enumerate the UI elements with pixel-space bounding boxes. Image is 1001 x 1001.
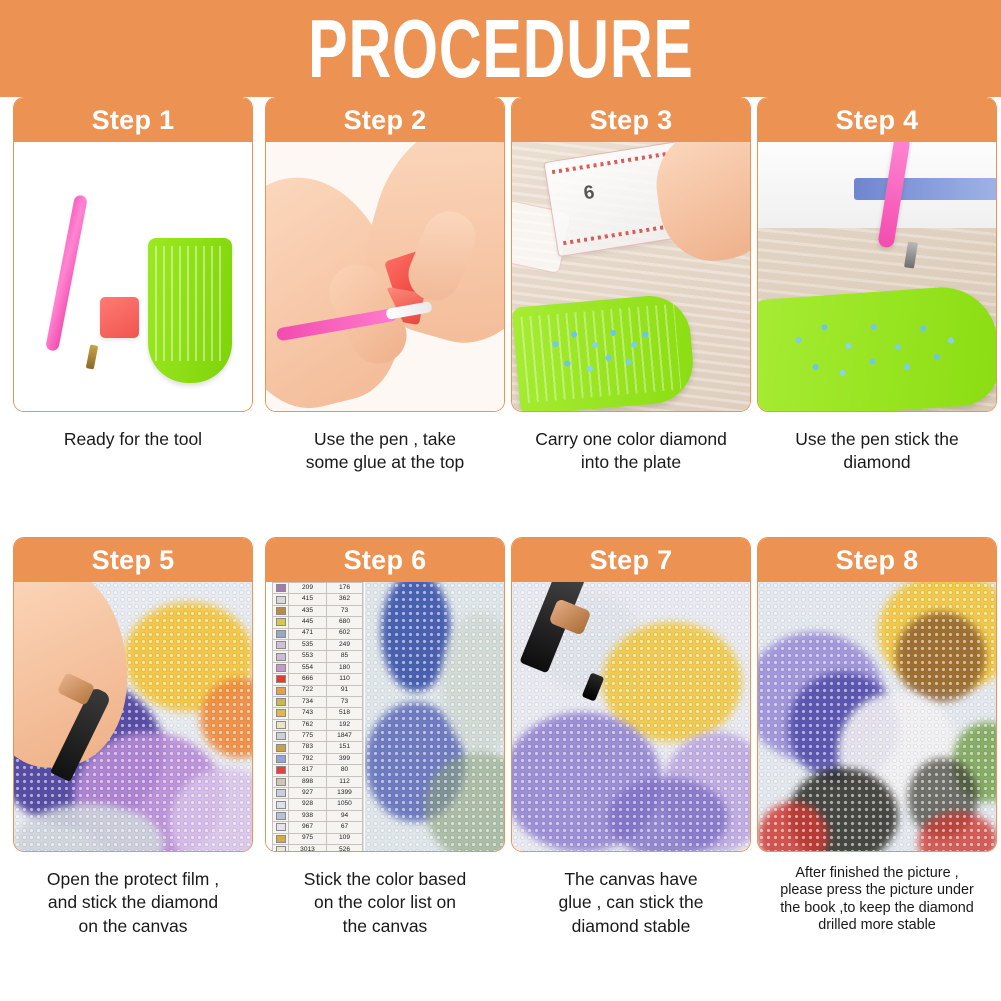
caption-line: glue , can stick the: [511, 891, 751, 914]
color-count-cell: 680: [327, 617, 363, 628]
pen-tip-icon: [86, 344, 98, 369]
caption-line: diamond stable: [511, 915, 751, 938]
steps-row-top: Step 1 Ready for the tool: [0, 97, 1001, 549]
canvas-sheet-icon: [758, 142, 996, 228]
color-symbol-cell: [273, 742, 289, 753]
color-count-cell: 1050: [327, 799, 363, 810]
step-cell-1: Step 1 Ready for the tool: [13, 97, 253, 549]
pour-diamonds-illustration: 6: [512, 142, 750, 412]
color-code-cell: 415: [289, 594, 327, 605]
color-code-cell: 743: [289, 708, 327, 719]
color-symbol-cell: [273, 708, 289, 719]
steps-grid: Step 1 Ready for the tool: [0, 97, 1001, 1001]
step-header-4: Step 4: [758, 98, 996, 142]
caption-line: Open the protect film ,: [13, 868, 253, 891]
color-symbol-cell: [273, 765, 289, 776]
color-code-cell: 928: [289, 799, 327, 810]
step-cell-8: Step 8: [757, 537, 997, 989]
color-swatch-icon: [276, 641, 286, 649]
color-list-row: 762192: [273, 719, 363, 730]
step-label-2: Step 2: [344, 107, 427, 134]
step-caption-2: Use the pen , take some glue at the top: [265, 428, 505, 475]
caption-line: some glue at the top: [265, 451, 505, 474]
caption-line: into the plate: [511, 451, 751, 474]
color-code-cell: 792: [289, 753, 327, 764]
color-swatch-icon: [276, 846, 286, 852]
color-symbol-cell: [273, 788, 289, 799]
color-count-cell: 1399: [327, 788, 363, 799]
step-card-8[interactable]: Step 8: [757, 537, 997, 852]
color-code-cell: 435: [289, 605, 327, 616]
caption-line: the book ,to keep the diamond: [757, 900, 997, 917]
color-code-cell: 734: [289, 696, 327, 707]
color-symbol-cell: [273, 617, 289, 628]
color-list-row: 554180: [273, 662, 363, 673]
color-list-row: 415362: [273, 594, 363, 605]
color-list-row: 471602: [273, 628, 363, 639]
steps-row-bottom: Step 5: [0, 537, 1001, 989]
color-list-row: 445680: [273, 617, 363, 628]
color-code-cell: 938: [289, 810, 327, 821]
color-list-row: 73473: [273, 696, 363, 707]
color-list-row: 93894: [273, 810, 363, 821]
color-symbol-cell: [273, 696, 289, 707]
color-symbol-cell: [273, 662, 289, 673]
step-label-4: Step 4: [836, 107, 919, 134]
caption-line: and stick the diamond: [13, 891, 253, 914]
caption-line: drilled more stable: [757, 917, 997, 934]
step-card-6[interactable]: Step 6 209176415362435734456804716025352…: [265, 537, 505, 852]
color-swatch-icon: [276, 596, 286, 604]
color-list-row: 975109: [273, 833, 363, 844]
step-image-4: [758, 142, 996, 412]
color-count-cell: 526: [327, 844, 363, 852]
color-symbol-cell: [273, 810, 289, 821]
step-caption-1: Ready for the tool: [13, 428, 253, 451]
step-label-3: Step 3: [590, 107, 673, 134]
caption-line: Use the pen , take: [265, 428, 505, 451]
color-list-table: 2091764153624357344568047160253524955385…: [272, 582, 363, 852]
packet-number: 6: [582, 182, 596, 205]
color-list-row: 666110: [273, 674, 363, 685]
step-label-7: Step 7: [590, 547, 673, 574]
color-count-cell: 602: [327, 628, 363, 639]
color-code-cell: 817: [289, 765, 327, 776]
pink-pen-icon: [45, 194, 88, 352]
glue-canvas-illustration: [512, 582, 750, 852]
color-swatch-icon: [276, 778, 286, 786]
color-symbol-cell: [273, 719, 289, 730]
color-list-row: 3013526: [273, 844, 363, 852]
color-code-cell: 762: [289, 719, 327, 730]
page-header-banner: PROCEDURE: [0, 0, 1001, 97]
step-image-1: [14, 142, 252, 412]
color-swatch-icon: [276, 766, 286, 774]
caption-line: the canvas: [265, 915, 505, 938]
step-card-4[interactable]: Step 4: [757, 97, 997, 412]
step-caption-8: After finished the picture , please pres…: [757, 865, 997, 935]
step-image-7: [512, 582, 750, 852]
color-list-row: 7751847: [273, 731, 363, 742]
step-caption-5: Open the protect film , and stick the di…: [13, 868, 253, 938]
caption-line: on the canvas: [13, 915, 253, 938]
color-code-cell: 775: [289, 731, 327, 742]
color-count-cell: 85: [327, 651, 363, 662]
color-code-cell: 967: [289, 822, 327, 833]
caption-line: The canvas have: [511, 868, 751, 891]
color-symbol-cell: [273, 594, 289, 605]
step-header-5: Step 5: [14, 538, 252, 582]
color-code-cell: 927: [289, 788, 327, 799]
step-card-1[interactable]: Step 1: [13, 97, 253, 412]
caption-line: Ready for the tool: [13, 428, 253, 451]
step-card-3[interactable]: Step 3 6: [511, 97, 751, 412]
color-swatch-icon: [276, 607, 286, 615]
step-label-8: Step 8: [836, 547, 919, 574]
color-symbol-cell: [273, 833, 289, 844]
color-swatch-icon: [276, 789, 286, 797]
color-symbol-cell: [273, 799, 289, 810]
finished-painting-illustration: [758, 582, 996, 852]
color-count-cell: 73: [327, 696, 363, 707]
color-symbol-cell: [273, 731, 289, 742]
caption-line: After finished the picture ,: [757, 865, 997, 882]
color-count-cell: 180: [327, 662, 363, 673]
color-count-cell: 399: [327, 753, 363, 764]
color-count-cell: 67: [327, 822, 363, 833]
step-image-2: [266, 142, 504, 412]
step-label-5: Step 5: [92, 547, 175, 574]
color-count-cell: 192: [327, 719, 363, 730]
color-list-panel: 2091764153624357344568047160253524955385…: [272, 582, 364, 852]
color-count-cell: 73: [327, 605, 363, 616]
step-image-8: [758, 582, 996, 852]
caption-line: Stick the color based: [265, 868, 505, 891]
step-cell-3: Step 3 6: [511, 97, 751, 549]
color-list-row: 81780: [273, 765, 363, 776]
color-symbol-cell: [273, 651, 289, 662]
color-list-row: 535249: [273, 639, 363, 650]
color-code-cell: 722: [289, 685, 327, 696]
color-swatch-icon: [276, 675, 286, 683]
color-count-cell: 362: [327, 594, 363, 605]
color-count-cell: 109: [327, 833, 363, 844]
tools-illustration: [14, 142, 252, 412]
color-symbol-cell: [273, 605, 289, 616]
step-caption-4: Use the pen stick the diamond: [757, 428, 997, 475]
green-tray-icon: [148, 238, 232, 383]
color-code-cell: 3013: [289, 844, 327, 852]
procedure-infographic: PROCEDURE Step 1: [0, 0, 1001, 1001]
color-count-cell: 112: [327, 776, 363, 787]
color-code-cell: 209: [289, 583, 327, 594]
caption-line: Use the pen stick the: [757, 428, 997, 451]
color-code-cell: 898: [289, 776, 327, 787]
color-swatch-icon: [276, 630, 286, 638]
step-caption-6: Stick the color based on the color list …: [265, 868, 505, 938]
color-count-cell: 249: [327, 639, 363, 650]
step-card-5[interactable]: Step 5: [13, 537, 253, 852]
color-list-row: 209176: [273, 583, 363, 594]
color-symbol-cell: [273, 776, 289, 787]
step-header-2: Step 2: [266, 98, 504, 142]
color-list-row: 743518: [273, 708, 363, 719]
step-image-6: 2091764153624357344568047160253524955385…: [266, 582, 504, 852]
diamond-grid-texture: [365, 582, 504, 852]
color-swatch-icon: [276, 698, 286, 706]
color-swatch-icon: [276, 744, 286, 752]
step-cell-6: Step 6 209176415362435734456804716025352…: [265, 537, 505, 989]
step-card-7[interactable]: Step 7: [511, 537, 751, 852]
color-swatch-icon: [276, 755, 286, 763]
color-list-row: 9271399: [273, 788, 363, 799]
stick-diamond-illustration: [14, 582, 252, 852]
step-header-6: Step 6: [266, 538, 504, 582]
color-count-cell: 518: [327, 708, 363, 719]
color-swatch-icon: [276, 721, 286, 729]
step-card-2[interactable]: Step 2: [265, 97, 505, 412]
color-code-cell: 445: [289, 617, 327, 628]
color-count-cell: 80: [327, 765, 363, 776]
hands-glue-illustration: [266, 142, 504, 412]
color-swatch-icon: [276, 835, 286, 843]
color-swatch-icon: [276, 709, 286, 717]
color-swatch-icon: [276, 618, 286, 626]
caption-line: please press the picture under: [757, 882, 997, 899]
color-count-cell: 176: [327, 583, 363, 594]
step-label-1: Step 1: [92, 107, 175, 134]
color-count-cell: 91: [327, 685, 363, 696]
color-count-cell: 94: [327, 810, 363, 821]
color-swatch-icon: [276, 664, 286, 672]
caption-line: on the color list on: [265, 891, 505, 914]
color-swatch-icon: [276, 732, 286, 740]
color-code-cell: 471: [289, 628, 327, 639]
step-header-8: Step 8: [758, 538, 996, 582]
color-list-row: 55385: [273, 651, 363, 662]
color-list-row: 72291: [273, 685, 363, 696]
color-swatch-icon: [276, 823, 286, 831]
color-count-cell: 151: [327, 742, 363, 753]
color-symbol-cell: [273, 639, 289, 650]
caption-line: Carry one color diamond: [511, 428, 751, 451]
step-cell-5: Step 5: [13, 537, 253, 989]
step-cell-4: Step 4 Use the pen stick the: [757, 97, 997, 549]
step-caption-3: Carry one color diamond into the plate: [511, 428, 751, 475]
partial-canvas: [365, 582, 504, 852]
diamond-grid-texture: [758, 582, 996, 852]
color-symbol-cell: [273, 753, 289, 764]
color-list-row: 792399: [273, 753, 363, 764]
pen-tip-icon: [904, 241, 918, 268]
color-code-cell: 666: [289, 674, 327, 685]
color-list-row: 783151: [273, 742, 363, 753]
step-header-1: Step 1: [14, 98, 252, 142]
color-list-row: 9281050: [273, 799, 363, 810]
color-symbol-cell: [273, 674, 289, 685]
step-header-3: Step 3: [512, 98, 750, 142]
color-list-row: 898112: [273, 776, 363, 787]
color-symbol-cell: [273, 685, 289, 696]
hand-icon: [650, 142, 750, 268]
color-code-cell: 975: [289, 833, 327, 844]
pick-diamond-illustration: [758, 142, 996, 412]
step-image-3: 6: [512, 142, 750, 412]
color-swatch-icon: [276, 687, 286, 695]
color-list-row: 96767: [273, 822, 363, 833]
color-swatch-icon: [276, 801, 286, 809]
color-swatch-icon: [276, 584, 286, 592]
step-cell-7: Step 7: [511, 537, 751, 989]
color-code-cell: 553: [289, 651, 327, 662]
color-symbol-cell: [273, 628, 289, 639]
color-symbol-cell: [273, 822, 289, 833]
color-swatch-icon: [276, 653, 286, 661]
color-list-row: 43573: [273, 605, 363, 616]
step-image-5: [14, 582, 252, 852]
color-count-cell: 1847: [327, 731, 363, 742]
color-symbol-cell: [273, 583, 289, 594]
step-cell-2: Step 2: [265, 97, 505, 549]
step-caption-7: The canvas have glue , can stick the dia…: [511, 868, 751, 938]
page-title: PROCEDURE: [308, 7, 693, 90]
color-code-cell: 783: [289, 742, 327, 753]
color-code-cell: 535: [289, 639, 327, 650]
step-header-7: Step 7: [512, 538, 750, 582]
caption-line: diamond: [757, 451, 997, 474]
color-count-cell: 110: [327, 674, 363, 685]
color-symbol-cell: [273, 844, 289, 852]
glue-clay-icon: [100, 297, 139, 338]
step-label-6: Step 6: [344, 547, 427, 574]
color-list-illustration: 2091764153624357344568047160253524955385…: [266, 582, 504, 852]
color-swatch-icon: [276, 812, 286, 820]
color-code-cell: 554: [289, 662, 327, 673]
